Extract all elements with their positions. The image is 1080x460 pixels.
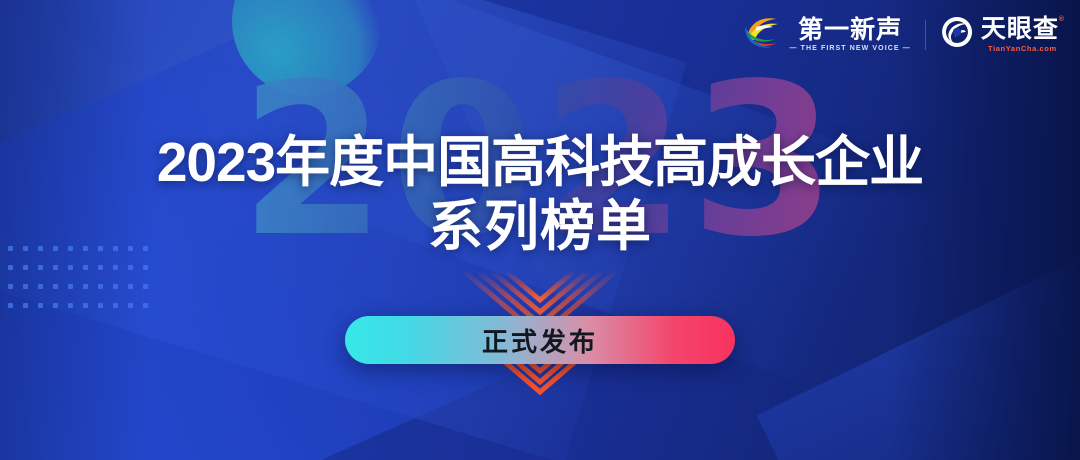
promo-banner: 2023 2023年度中国 bbox=[0, 0, 1080, 460]
release-status-badge[interactable]: 正式发布 bbox=[345, 316, 735, 364]
logo-divider bbox=[925, 20, 926, 50]
page-title-line-2: 系列榜单 bbox=[0, 194, 1080, 259]
eye-lens-logo-icon bbox=[940, 15, 974, 54]
logo-tianyancha-name: 天眼查 bbox=[981, 16, 1059, 42]
logo-tianyancha-text: 天眼查 ® TianYanCha.com bbox=[981, 16, 1064, 52]
registered-trademark-icon: ® bbox=[1059, 16, 1064, 23]
logo-bar: 第一新声 — THE FIRST NEW VOICE — 天眼查 ® Tian bbox=[744, 14, 1064, 55]
logo-tianyancha[interactable]: 天眼查 ® TianYanCha.com bbox=[940, 15, 1064, 54]
release-status-label: 正式发布 bbox=[482, 322, 598, 359]
logo-diyixinsheng-text: 第一新声 — THE FIRST NEW VOICE — bbox=[789, 17, 910, 52]
page-title-line-1: 2023年度中国高科技高成长企业 bbox=[0, 134, 1080, 192]
headline-block: 2023年度中国高科技高成长企业 系列榜单 bbox=[0, 134, 1080, 259]
logo-diyixinsheng[interactable]: 第一新声 — THE FIRST NEW VOICE — bbox=[744, 14, 910, 55]
swirl-ribbon-logo-icon bbox=[744, 14, 782, 55]
logo-tianyancha-tagline: TianYanCha.com bbox=[988, 44, 1057, 53]
logo-diyixinsheng-name: 第一新声 bbox=[798, 17, 902, 43]
logo-diyixinsheng-tagline: — THE FIRST NEW VOICE — bbox=[789, 45, 910, 52]
